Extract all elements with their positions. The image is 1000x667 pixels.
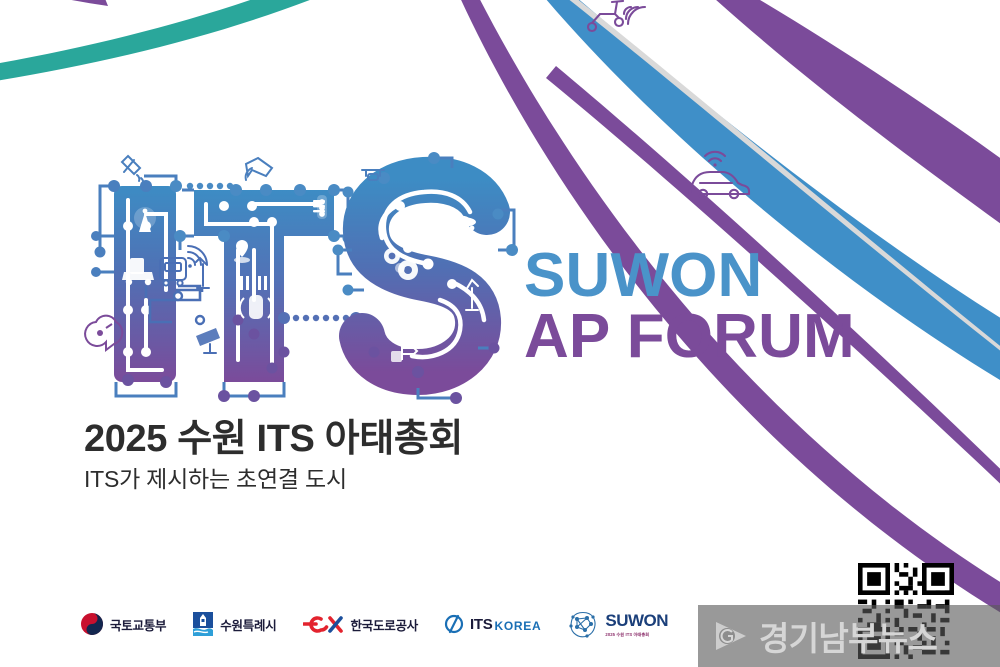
sponsor-strip: 국토교통부 수원특례시 한국도로공사: [80, 604, 668, 644]
suwon-tower-icon: [192, 611, 214, 637]
ex-icon: [303, 613, 345, 635]
its-korea-sub: KOREA: [494, 619, 541, 633]
suwon-its-sub: 2025 수원 ITS 아태총회: [605, 632, 668, 638]
watermark: 경기남부뉴스: [698, 605, 1000, 667]
play-triangle-g-icon: [712, 617, 750, 655]
suwon-its-main: SUWON: [605, 611, 668, 631]
sponsor-label: 국토교통부: [110, 615, 166, 634]
sponsor-ex-korea[interactable]: 한국도로공사: [303, 607, 419, 641]
taegeuk-icon: [80, 612, 104, 636]
its-korea-main: ITS: [470, 616, 492, 633]
roadside-signal-icon: [318, 196, 326, 218]
satellite-icon: [122, 156, 144, 187]
wordmark-line1: SUWON: [524, 246, 924, 307]
suwon-its-label: SUWON 2025 수원 ITS 아태총회: [605, 611, 668, 638]
traffic-light-icon: [290, 246, 302, 278]
letter-s: [333, 152, 519, 404]
suwon-network-icon: [567, 609, 599, 639]
watermark-text: 경기남부뉴스: [759, 612, 937, 660]
its-korea-label: ITS KOREA: [470, 616, 541, 633]
map-pin-icon: [458, 238, 478, 262]
poster-canvas: SUWON AP FORUM 2025 수원 ITS 아태총회 ITS가 제시하…: [0, 0, 1000, 667]
sponsor-label: 한국도로공사: [351, 615, 419, 634]
sponsor-its-korea[interactable]: ITS KOREA: [444, 607, 541, 641]
event-wordmark: SUWON AP FORUM: [524, 246, 924, 368]
airplane-icon: [246, 158, 272, 180]
sponsor-label: 수원특례시: [220, 615, 276, 634]
cctv-camera-icon: [196, 328, 220, 353]
page-title: 2025 수원 ITS 아태총회: [84, 407, 463, 462]
sponsor-suwon-city[interactable]: 수원특례시: [192, 607, 276, 641]
page-subtitle: ITS가 제시하는 초연결 도시: [84, 460, 347, 494]
its-korea-circle-icon: [444, 613, 464, 635]
sponsor-suwon-its[interactable]: SUWON 2025 수원 ITS 아태총회: [567, 607, 668, 641]
sponsor-motie[interactable]: 국토교통부: [80, 607, 166, 641]
letter-i: [91, 176, 176, 396]
wordmark-line2: AP FORUM: [524, 307, 924, 368]
